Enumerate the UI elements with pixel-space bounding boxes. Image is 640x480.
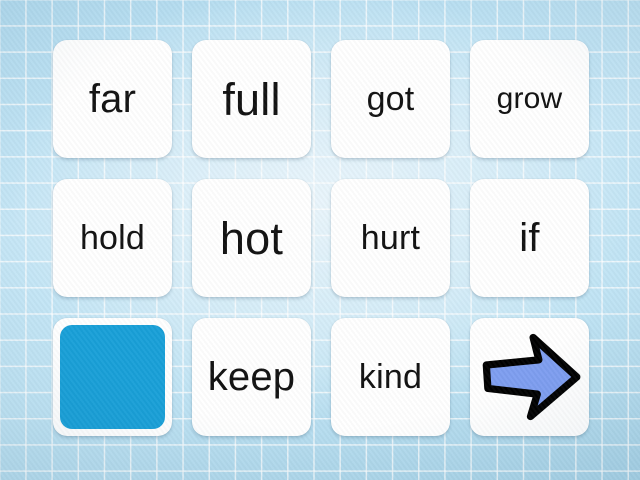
word-tile-hold[interactable]: hold [53, 179, 172, 297]
word-tile-keep[interactable]: keep [192, 318, 311, 436]
word-tile-label: full [222, 77, 280, 122]
word-tile-hot[interactable]: hot [192, 179, 311, 297]
blue-swatch-fill [60, 325, 165, 429]
word-tile-label: far [89, 79, 136, 119]
word-tile-full[interactable]: full [192, 40, 311, 158]
word-tile-label: kind [359, 360, 422, 394]
word-tile-if[interactable]: if [470, 179, 589, 297]
word-tile-hurt[interactable]: hurt [331, 179, 450, 297]
next-arrow-tile[interactable] [470, 318, 589, 436]
word-tile-grow[interactable]: grow [470, 40, 589, 158]
word-tile-label: hold [80, 221, 145, 255]
arrow-right-icon [478, 325, 582, 429]
word-tile-label: hot [220, 216, 283, 261]
graph-paper-background: far full got grow hold hot hurt if keep [0, 0, 640, 480]
word-tile-grid: far full got grow hold hot hurt if keep [53, 40, 589, 436]
word-tile-label: keep [208, 357, 296, 397]
word-tile-label: hurt [361, 221, 420, 255]
blue-swatch-tile[interactable] [53, 318, 172, 436]
word-tile-got[interactable]: got [331, 40, 450, 158]
word-tile-label: grow [497, 84, 563, 114]
word-tile-far[interactable]: far [53, 40, 172, 158]
word-tile-label: if [519, 218, 539, 258]
word-tile-kind[interactable]: kind [331, 318, 450, 436]
word-tile-label: got [367, 82, 415, 116]
